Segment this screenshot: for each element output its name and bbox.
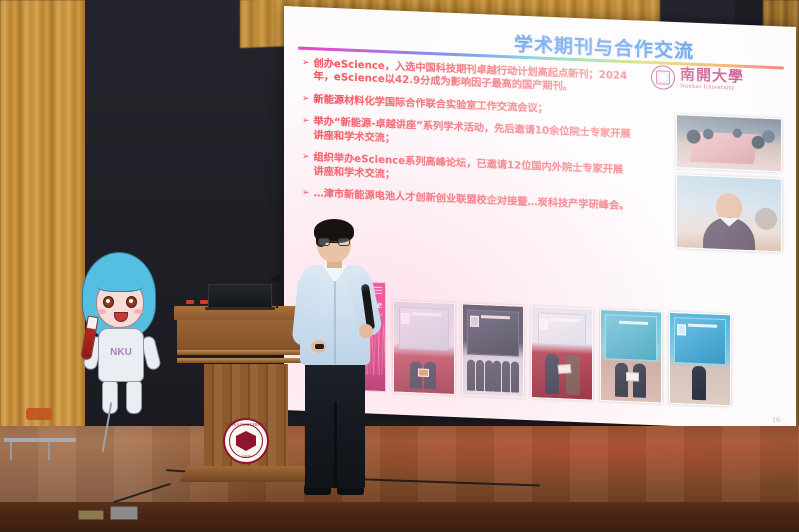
list-item: ➢ …津市新能源电池人才创新创业联盟校企对接暨…炭科技产学研峰会。 [302,187,632,214]
nankai-university-logo: 南開大學 Nankai University [651,65,744,93]
floor-connector-panel [110,506,138,520]
slide-bullet-list: ➢ 创办eScience，入选中国科技期刊卓越行动计划高起点新刊；2024年，e… [302,57,632,223]
logo-english-name: Nankai University [680,83,744,92]
certificate [557,364,571,374]
side-table [4,438,76,442]
stage-floor [0,426,799,508]
mascot-blush-left [97,309,106,314]
bullet-text: 新能源材料化学国际合作联合实验室工作交流会议； [314,93,548,116]
conference-photo-scene: 学术期刊与合作交流 南開大學 Nankai University ➢ 创办eSc… [0,0,799,532]
portrait-inset [677,324,686,335]
nku-mascot-standee: NKU [76,252,172,417]
logo-chinese-name: 南開大學 [680,67,744,85]
arrow-bullet-icon: ➢ [302,57,310,84]
nankai-seal-icon [651,65,675,90]
presenter-laptop[interactable] [208,284,272,308]
gooseneck-mic-stand [276,280,278,308]
list-item: ➢ 新能源材料化学国际合作联合实验室工作交流会议； [302,93,632,120]
award-plaque [418,368,429,376]
bullet-text: …津市新能源电池人才创新创业联盟校企对接暨…炭科技产学研峰会。 [314,187,630,213]
list-item: ➢ 组织举办eScience系列高峰论坛，已邀请12位国内外院士专家开展讲座和学… [302,151,632,191]
person-figure [566,354,580,394]
certificate [626,372,639,382]
mascot-blush-right [134,309,143,314]
mascot-eye-left [103,296,114,308]
presenter-leg-gap [334,402,337,488]
lecture-award-photo-1 [393,300,455,395]
arrow-bullet-icon: ➢ [302,115,310,142]
slide-thumbnail-strip: eScience Volume 2024 KeAi [342,280,731,406]
bullet-text: 举办“新能源-卓越讲座”系列学术活动，先后邀请10余位院士专家开展讲座和学术交流… [314,116,632,156]
group-photo-2 [462,303,524,398]
slide-side-photo-stack [676,114,782,258]
presentation-clicker[interactable] [315,344,324,349]
floor-power-box [78,510,104,520]
portrait-inset [539,318,548,329]
emblem-inner-ring [229,424,263,458]
eyeglasses-icon [318,238,350,247]
lab-meeting-photo [676,114,782,172]
arrow-bullet-icon: ➢ [302,93,310,107]
mascot-nku-label: NKU [99,347,143,358]
blue-backdrop-seminar-photo-5 [669,312,731,407]
video-call-portrait-photo [676,174,782,252]
arrow-bullet-icon: ➢ [302,187,310,201]
mascot-eye-right [126,296,137,308]
arrow-bullet-icon: ➢ [302,151,310,178]
emblem-shield-icon [236,431,256,451]
person-figure [545,354,559,394]
mascot-body: NKU [98,328,144,382]
portrait-inset [470,315,479,326]
podium-trim-band [177,358,315,363]
background-tree [755,207,777,230]
list-item: ➢ 举办“新能源-卓越讲座”系列学术活动，先后邀请10余位院士专家开展讲座和学术… [302,115,632,155]
person-figure [692,366,706,401]
podium-trim-band [177,350,315,355]
slide-page-number: 16 [772,415,780,424]
nankai-podium-emblem: NANKAI UNIVERSITY 1919 [223,418,269,464]
presenter-hand-right [359,324,373,338]
presenter-person [297,222,373,512]
emblem-year-label: 1919 [225,454,267,459]
bullet-text: 组织举办eScience系列高峰论坛，已邀请12位国内外院士专家开展讲座和学术交… [314,151,632,191]
person-row [467,359,520,392]
list-item: ➢ 创办eScience，入选中国科技期刊卓越行动计划高起点新刊；2024年，e… [302,57,632,97]
mascot-leg-right [126,380,142,414]
mascot-fringe [95,274,145,292]
portrait-inset [401,313,410,324]
certificate-award-photo-3 [531,306,593,401]
cyan-backdrop-award-photo-4 [600,309,662,404]
podium-indicator-lights [186,300,208,304]
podium-base [180,466,312,482]
shirt-button-placket [334,278,336,364]
orange-floor-object [26,408,52,420]
bullet-text: 创办eScience，入选中国科技期刊卓越行动计划高起点新刊；2024年，eSc… [314,57,632,97]
